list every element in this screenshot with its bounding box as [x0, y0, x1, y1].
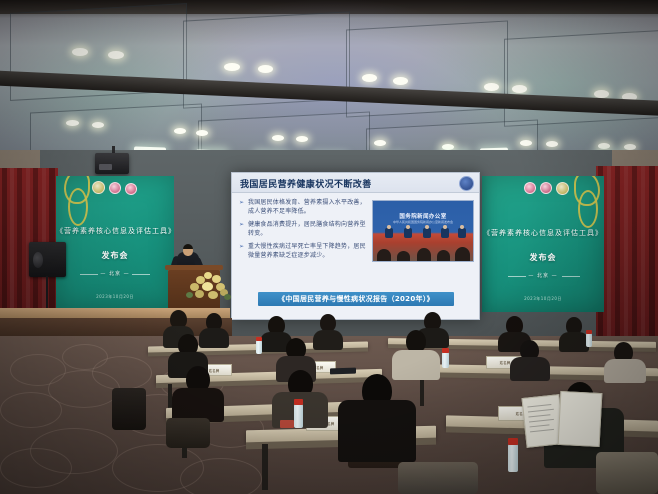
slide-bullet: ➢ 我国居民体格发育、营养素摄入水平改善，成人营养不足率降低。	[239, 199, 367, 216]
downlight-icon	[362, 74, 377, 82]
downlight-icon	[546, 141, 558, 147]
small-red-object	[280, 420, 294, 428]
banner-right-line3: — 北京 —	[482, 272, 604, 279]
floral-arrangement	[186, 272, 232, 302]
downlight-icon	[374, 140, 386, 146]
downlight-icon	[174, 128, 186, 134]
downlight-icon	[66, 120, 79, 126]
downlight-icon	[520, 140, 532, 146]
slide-photo-caption: 国务院新闻办公室	[373, 212, 473, 220]
bottle-cap-icon	[256, 337, 262, 341]
conference-hall-photo: 《营养素养核心信息及评估工具》 发布会 — 北京 — 2023年10月20日 《…	[0, 0, 658, 494]
downlight-icon	[512, 85, 527, 93]
handbag	[112, 388, 146, 430]
downlight-icon	[393, 77, 408, 85]
slide-press-conference-photo: 国务院新闻办公室 中华人民共和国国务院新闻办公室新闻发布会	[372, 200, 474, 262]
bullet-arrow-icon: ➢	[239, 243, 244, 252]
logo-circle-1-icon	[92, 181, 105, 194]
bottle-cap-icon	[508, 438, 518, 445]
projection-screen: 我国居民营养健康状况不断改善 ➢ 我国居民体格发育、营养素摄入水平改善，成人营养…	[231, 172, 480, 320]
coat-on-chair	[596, 452, 658, 494]
booklet-page-right	[558, 391, 603, 447]
slide-bullet-list: ➢ 我国居民体格发育、营养素摄入水平改善，成人营养不足率降低。 ➢ 健康食品消费…	[239, 199, 367, 265]
water-bottle	[256, 340, 262, 354]
slide-title: 我国居民营养健康状况不断改善	[240, 177, 372, 190]
slide-footer-banner: 《中国居民营养与慢性病状况报告（2020年）》	[258, 292, 454, 306]
bottle-cap-icon	[294, 399, 303, 405]
presenter-hair	[183, 244, 193, 249]
slide-photo-subcaption: 中华人民共和国国务院新闻办公室新闻发布会	[373, 220, 473, 224]
bullet-arrow-icon: ➢	[239, 199, 244, 208]
downlight-icon	[258, 65, 273, 73]
bullet-arrow-icon: ➢	[239, 221, 244, 230]
downlight-icon	[296, 136, 308, 142]
slide-bullet-text: 健康食品消费提升，居民膳食结构向营养型转变。	[248, 221, 366, 237]
name-card-text: 姓名牌	[209, 368, 220, 373]
logo-circle-1-icon	[524, 182, 536, 194]
logo-circle-3-icon	[556, 182, 569, 195]
logo-circle-3-icon	[125, 183, 137, 195]
downlight-icon	[224, 63, 240, 71]
downlight-icon	[108, 51, 124, 59]
logo-circle-2-icon	[540, 182, 552, 194]
laptop	[330, 368, 356, 375]
table-leg	[420, 378, 424, 406]
water-bottle	[586, 333, 592, 347]
banner-right-date: 2023年10月20日	[482, 296, 604, 302]
water-bottle	[294, 404, 303, 428]
banner-left-line2: 发布会	[56, 250, 174, 261]
downlight-icon	[484, 83, 499, 91]
projector-lens-icon	[99, 164, 112, 170]
slide-bullet: ➢ 重大慢性疾病过早死亡率呈下降趋势，居民微量营养素缺乏症逐步减少。	[239, 243, 367, 260]
lectern-top	[165, 265, 223, 270]
downlight-icon	[92, 122, 104, 128]
water-bottle	[442, 352, 449, 368]
slide-bullet-text: 重大慢性疾病过早死亡率呈下降趋势，居民微量营养素缺乏症逐步减少。	[248, 243, 366, 259]
downlight-icon	[196, 130, 208, 136]
stage-curtain-right	[596, 166, 658, 338]
logo-circle-2-icon	[109, 182, 121, 194]
banner-left-date: 2023年10月20日	[56, 294, 174, 300]
downlight-icon	[272, 135, 284, 141]
ribbon-decoration-icon	[578, 190, 598, 228]
banner-left-line1: 《营养素养核心信息及评估工具》	[56, 226, 174, 236]
ribbon-decoration-icon	[68, 188, 88, 226]
downlight-icon	[598, 143, 610, 149]
banner-left-line3: — 北京 —	[56, 270, 174, 277]
slide-bullet: ➢ 健康食品消费提升，居民膳食结构向营养型转变。	[239, 221, 367, 238]
bottle-cap-icon	[586, 330, 592, 334]
downlight-icon	[72, 48, 88, 56]
banner-right-line1: 《营养素养核心信息及评估工具》	[482, 228, 604, 238]
national-health-emblem-icon	[459, 176, 474, 191]
pa-speaker-driver-icon	[33, 252, 43, 268]
name-card-text: 姓名牌	[500, 360, 511, 365]
water-bottle	[508, 444, 518, 472]
banner-right: 《营养素养核心信息及评估工具》 发布会 — 北京 — 2023年10月20日	[482, 176, 604, 312]
bottle-cap-icon	[442, 348, 449, 353]
slide-footer-banner-text: 《中国居民营养与慢性病状况报告（2020年）》	[258, 292, 454, 306]
coat-on-chair	[166, 418, 210, 448]
slide-bullet-text: 我国居民体格发育、营养素摄入水平改善，成人营养不足率降低。	[248, 199, 366, 215]
coat-on-chair	[398, 462, 478, 494]
table-leg	[262, 444, 268, 490]
downlight-icon	[594, 90, 609, 98]
ceiling	[0, 0, 658, 152]
banner-right-line2: 发布会	[482, 252, 604, 263]
banner-left: 《营养素养核心信息及评估工具》 发布会 — 北京 — 2023年10月20日	[56, 176, 174, 310]
